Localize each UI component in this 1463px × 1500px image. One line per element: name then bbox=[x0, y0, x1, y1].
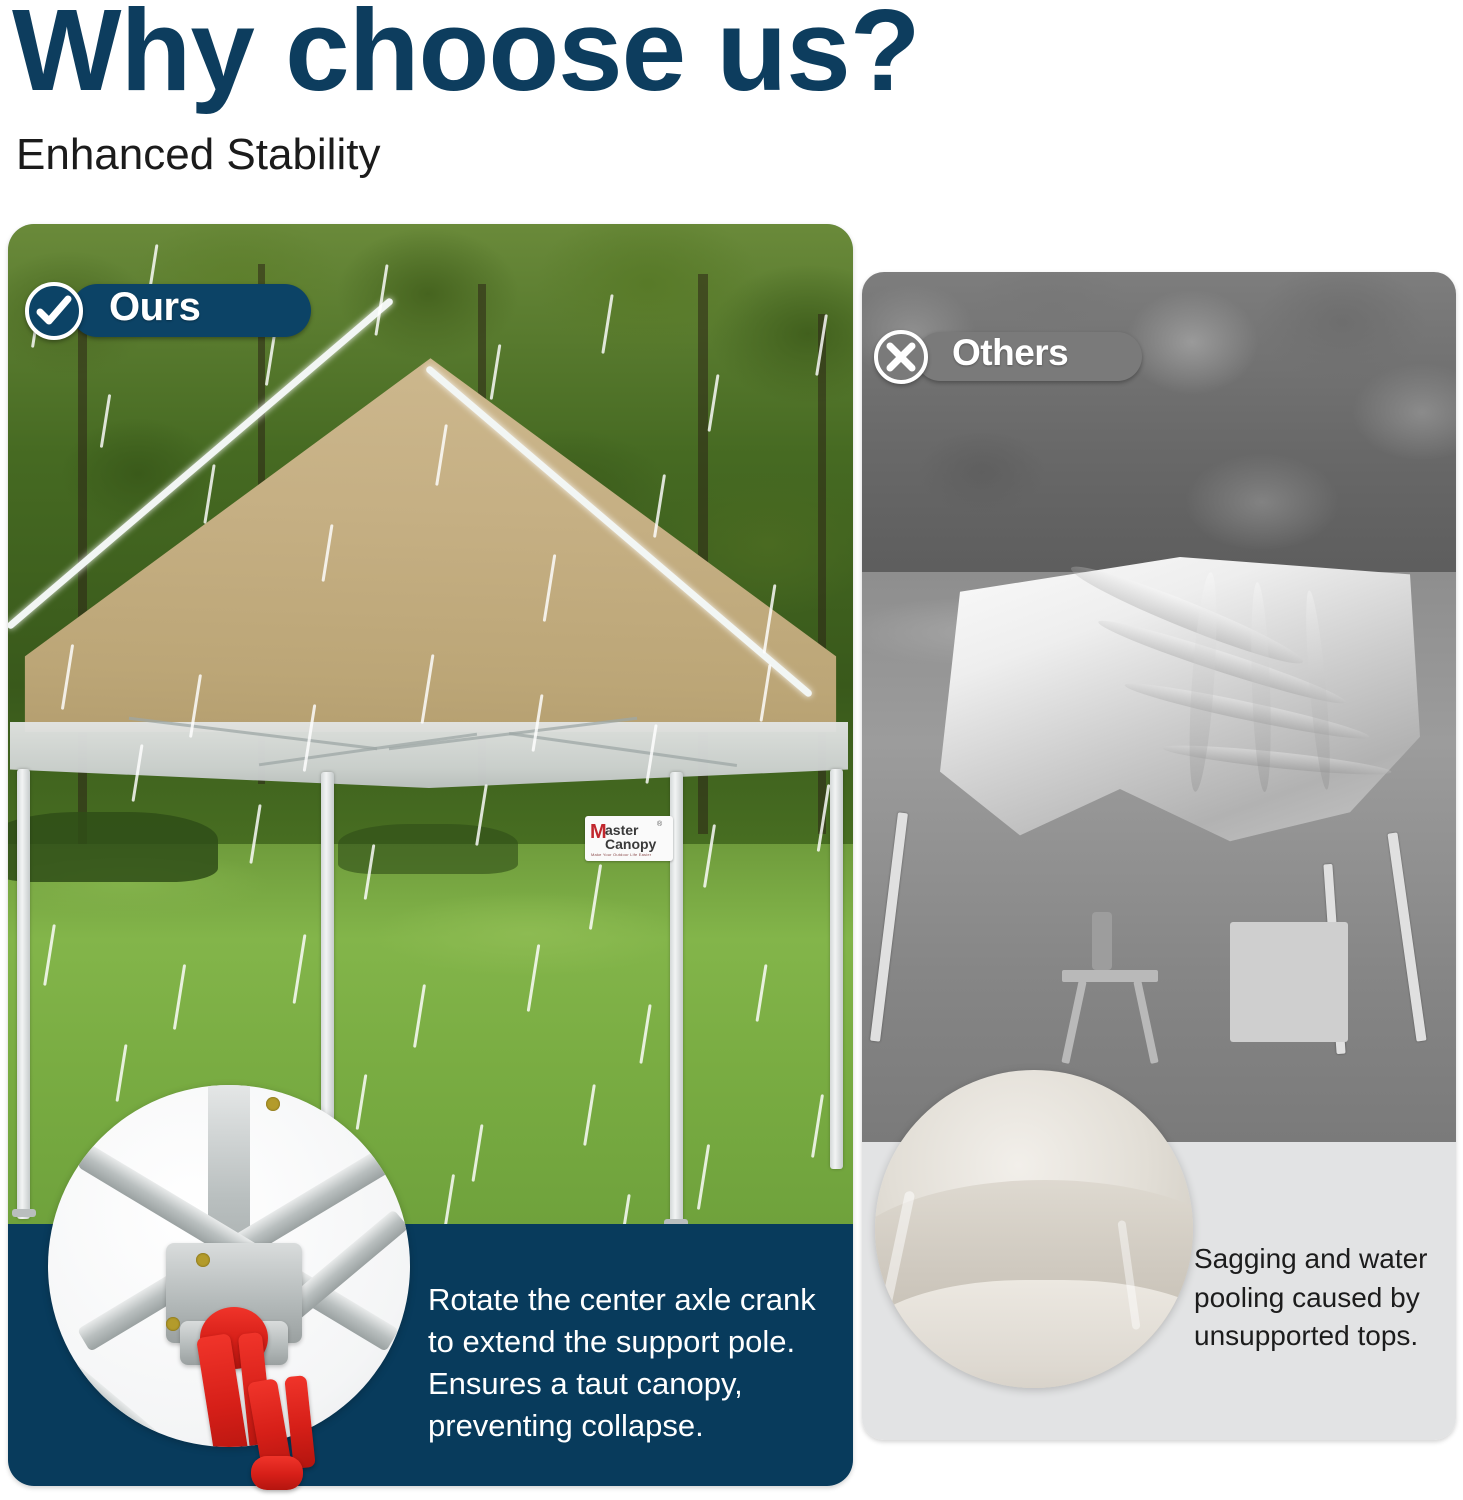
hub-screw bbox=[166, 1317, 180, 1331]
x-circle-icon bbox=[874, 330, 928, 384]
canopy-foot bbox=[12, 1209, 36, 1217]
logo-trademark-icon: ® bbox=[657, 821, 662, 828]
camp-chair bbox=[1230, 922, 1348, 1042]
logo-word-line1: aster bbox=[605, 823, 638, 837]
others-caption-text: Sagging and water pooling caused by unsu… bbox=[1194, 1240, 1444, 1356]
others-panel: Sagging and water pooling caused by unsu… bbox=[862, 272, 1456, 1440]
page-title: Why choose us? bbox=[12, 0, 920, 108]
hub-screw bbox=[196, 1253, 210, 1267]
logo-mark: M bbox=[590, 822, 606, 842]
logo-word-line2: Canopy bbox=[605, 837, 656, 851]
others-detail-inset bbox=[875, 1070, 1193, 1388]
others-badge-label: Others bbox=[952, 334, 1068, 371]
ours-caption-text: Rotate the center axle crank to extend t… bbox=[428, 1279, 848, 1448]
folding-stool-top bbox=[1062, 970, 1158, 982]
page-subtitle: Enhanced Stability bbox=[16, 133, 380, 177]
ours-badge-label: Ours bbox=[109, 287, 200, 327]
page-header: Why choose us? Enhanced Stability bbox=[0, 0, 1463, 215]
ours-detail-inset bbox=[48, 1085, 410, 1447]
jar bbox=[1092, 912, 1112, 970]
canopy-leg bbox=[17, 769, 30, 1219]
hedge-bush bbox=[338, 824, 518, 874]
logo-tagline: Make Your Outdoor Life Easier bbox=[591, 852, 651, 857]
hedge-bush bbox=[8, 812, 218, 882]
check-circle-icon bbox=[25, 282, 83, 340]
ours-scene-photo: M aster Canopy ® Make Your Outdoor Life … bbox=[8, 224, 853, 1224]
mastercanopy-logo: M aster Canopy ® Make Your Outdoor Life … bbox=[585, 816, 673, 861]
canopy-leg bbox=[830, 769, 843, 1169]
hub-screw bbox=[266, 1097, 280, 1111]
others-scene-photo bbox=[862, 272, 1456, 1142]
